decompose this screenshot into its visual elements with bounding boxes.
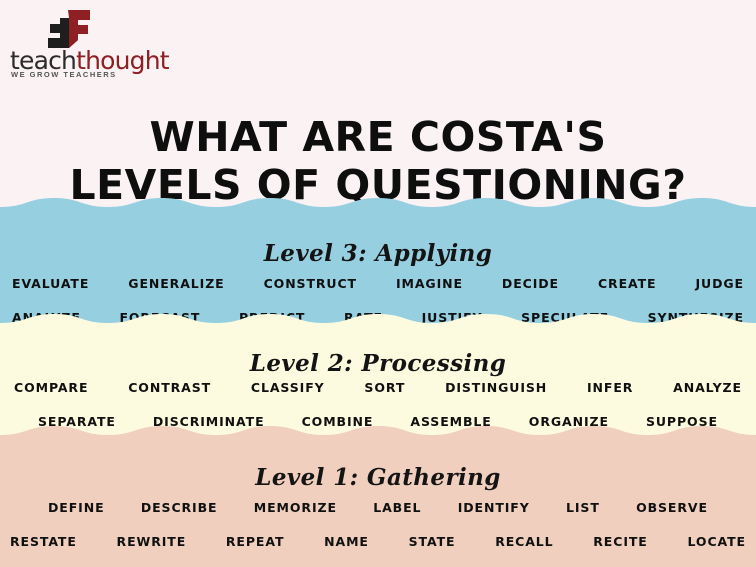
- verb-chip: JUDGE: [695, 276, 743, 291]
- level-2-heading: Level 2: Processing: [0, 350, 756, 377]
- level-1-verb-row-1: DEFINE DESCRIBE MEMORIZE LABEL IDENTIFY …: [0, 500, 756, 515]
- verb-chip: STATE: [409, 534, 456, 549]
- poster-canvas: teachthought WE GROW TEACHERS WHAT ARE C…: [0, 0, 756, 567]
- level-3-verb-row-1: EVALUATE GENERALIZE CONSTRUCT IMAGINE DE…: [0, 276, 756, 291]
- level-3-heading: Level 3: Applying: [0, 240, 756, 267]
- verb-chip: DECIDE: [502, 276, 559, 291]
- verb-chip: IDENTIFY: [458, 500, 530, 515]
- verb-chip: EVALUATE: [12, 276, 89, 291]
- verb-chip: CONSTRUCT: [264, 276, 357, 291]
- verb-chip: INFER: [587, 380, 633, 395]
- verb-chip: REPEAT: [226, 534, 285, 549]
- verb-chip: CONTRAST: [128, 380, 211, 395]
- page-title: WHAT ARE COSTA'S LEVELS OF QUESTIONING?: [0, 113, 756, 209]
- verb-chip: CLASSIFY: [251, 380, 325, 395]
- level-1-band: Level 1: Gathering DEFINE DESCRIBE MEMOR…: [0, 442, 756, 567]
- verb-chip: NAME: [324, 534, 369, 549]
- verb-chip: RESTATE: [10, 534, 77, 549]
- level-2-verb-row-1: COMPARE CONTRAST CLASSIFY SORT DISTINGUI…: [0, 380, 756, 395]
- logo-tagline: WE GROW TEACHERS: [11, 70, 117, 79]
- verb-chip: ANALYZE: [673, 380, 742, 395]
- verb-chip: REWRITE: [117, 534, 187, 549]
- verb-chip: SORT: [364, 380, 405, 395]
- verb-chip: GENERALIZE: [128, 276, 224, 291]
- teachthought-logo: teachthought WE GROW TEACHERS: [8, 4, 158, 76]
- verb-chip: RECALL: [495, 534, 553, 549]
- page-title-line-1: WHAT ARE COSTA'S: [0, 113, 756, 161]
- verb-chip: DEFINE: [48, 500, 105, 515]
- verb-chip: OBSERVE: [636, 500, 708, 515]
- verb-chip: IMAGINE: [396, 276, 463, 291]
- level-1-heading: Level 1: Gathering: [0, 464, 756, 491]
- verb-chip: LOCATE: [688, 534, 747, 549]
- verb-chip: CREATE: [598, 276, 657, 291]
- wave-divider-top-blue: [0, 198, 756, 215]
- verb-chip: DESCRIBE: [141, 500, 218, 515]
- verb-chip: MEMORIZE: [254, 500, 337, 515]
- wave-divider-top-peach: [0, 426, 756, 443]
- verb-chip: RECITE: [593, 534, 647, 549]
- verb-chip: LABEL: [373, 500, 421, 515]
- verb-chip: DISTINGUISH: [445, 380, 547, 395]
- verb-chip: LIST: [566, 500, 600, 515]
- level-1-verb-row-2: RESTATE REWRITE REPEAT NAME STATE RECALL…: [0, 534, 756, 549]
- wave-divider-top-cream: [0, 314, 756, 331]
- verb-chip: COMPARE: [14, 380, 88, 395]
